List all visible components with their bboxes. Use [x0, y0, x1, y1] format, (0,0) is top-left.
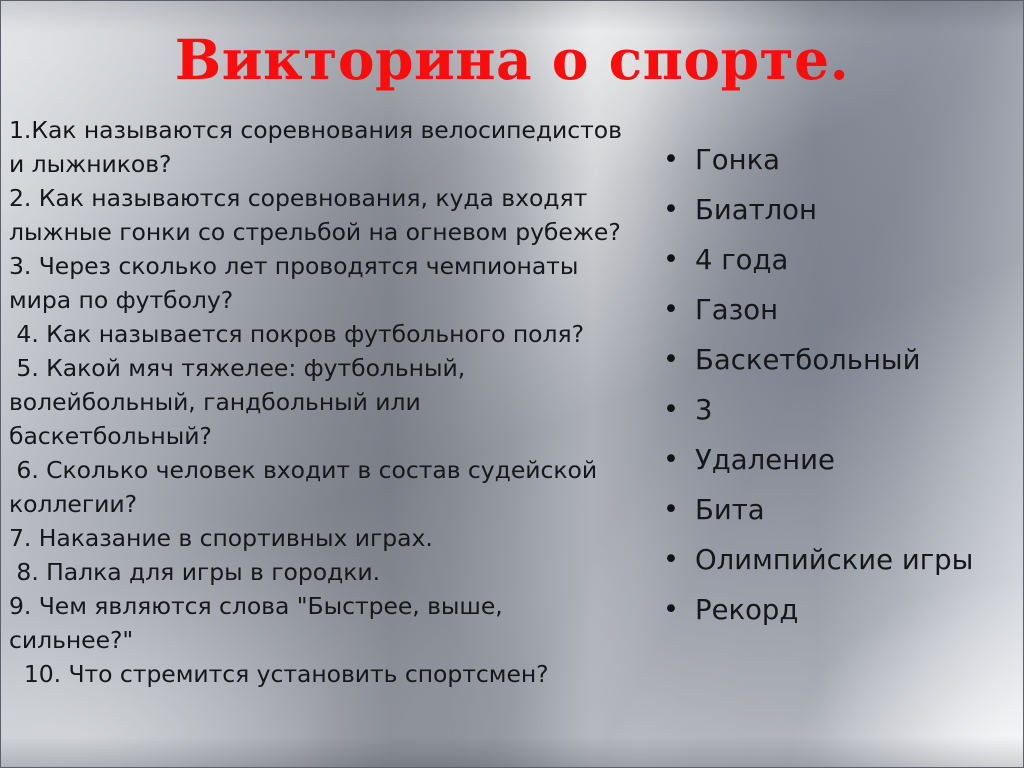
answers-list: •Гонка•Биатлон•4 года•Газон•Баскетбольны… — [657, 135, 1017, 635]
bullet-icon: • — [663, 285, 675, 335]
question-line: баскетбольный? — [9, 419, 633, 453]
bullet-icon: • — [663, 185, 675, 235]
bullet-icon: • — [663, 335, 675, 385]
answer-label: Удаление — [695, 444, 835, 476]
answer-item: •Олимпийские игры — [657, 535, 1017, 585]
answer-label: 4 года — [695, 244, 788, 276]
question-line: 1.Как называются соревнования велосипеди… — [9, 113, 633, 147]
answer-item: •Рекорд — [657, 585, 1017, 635]
question-line: и лыжников? — [9, 147, 633, 181]
answer-label: 3 — [695, 394, 713, 426]
answer-label: Биатлон — [695, 194, 817, 226]
question-line: сильнее?" — [9, 623, 633, 657]
bullet-icon: • — [663, 435, 675, 485]
answer-item: •Биатлон — [657, 185, 1017, 235]
bullet-icon: • — [663, 235, 675, 285]
question-line: 3. Через сколько лет проводятся чемпиона… — [9, 249, 633, 283]
bullet-icon: • — [663, 385, 675, 435]
question-line: лыжные гонки со стрельбой на огневом руб… — [9, 215, 633, 249]
answer-label: Гонка — [695, 144, 780, 176]
bullet-icon: • — [663, 535, 675, 585]
bullet-icon: • — [663, 585, 675, 635]
answer-item: •Бита — [657, 485, 1017, 535]
question-line: 6. Сколько человек входит в состав судей… — [9, 453, 633, 487]
slide-content: Викторина о спорте. 1.Как называются сор… — [1, 1, 1023, 767]
question-line: волейбольный, гандбольный или — [9, 385, 633, 419]
answer-item: •Баскетбольный — [657, 335, 1017, 385]
answer-label: Газон — [695, 294, 778, 326]
question-line: коллегии? — [9, 487, 633, 521]
question-line: 7. Наказание в спортивных играх. — [9, 521, 633, 555]
answer-item: •3 — [657, 385, 1017, 435]
question-line: 9. Чем являются слова "Быстрее, выше, — [9, 589, 633, 623]
answer-item: •4 года — [657, 235, 1017, 285]
answer-label: Олимпийские игры — [695, 544, 973, 576]
answer-label: Бита — [695, 494, 765, 526]
question-line: 5. Какой мяч тяжелее: футбольный, — [9, 351, 633, 385]
bullet-icon: • — [663, 485, 675, 535]
answer-item: •Газон — [657, 285, 1017, 335]
question-line: 8. Палка для игры в городки. — [9, 555, 633, 589]
question-line: мира по футболу? — [9, 283, 633, 317]
answer-label: Баскетбольный — [695, 344, 921, 376]
presentation-slide: Викторина о спорте. 1.Как называются сор… — [0, 0, 1024, 768]
answer-item: •Удаление — [657, 435, 1017, 485]
slide-title: Викторина о спорте. — [1, 29, 1023, 91]
questions-column: 1.Как называются соревнования велосипеди… — [9, 113, 633, 691]
bullet-icon: • — [663, 135, 675, 185]
answer-item: •Гонка — [657, 135, 1017, 185]
question-line: 10. Что стремится установить спортсмен? — [9, 657, 633, 691]
question-line: 2. Как называются соревнования, куда вхо… — [9, 181, 633, 215]
answer-label: Рекорд — [695, 594, 798, 626]
question-line: 4. Как называется покров футбольного пол… — [9, 317, 633, 351]
